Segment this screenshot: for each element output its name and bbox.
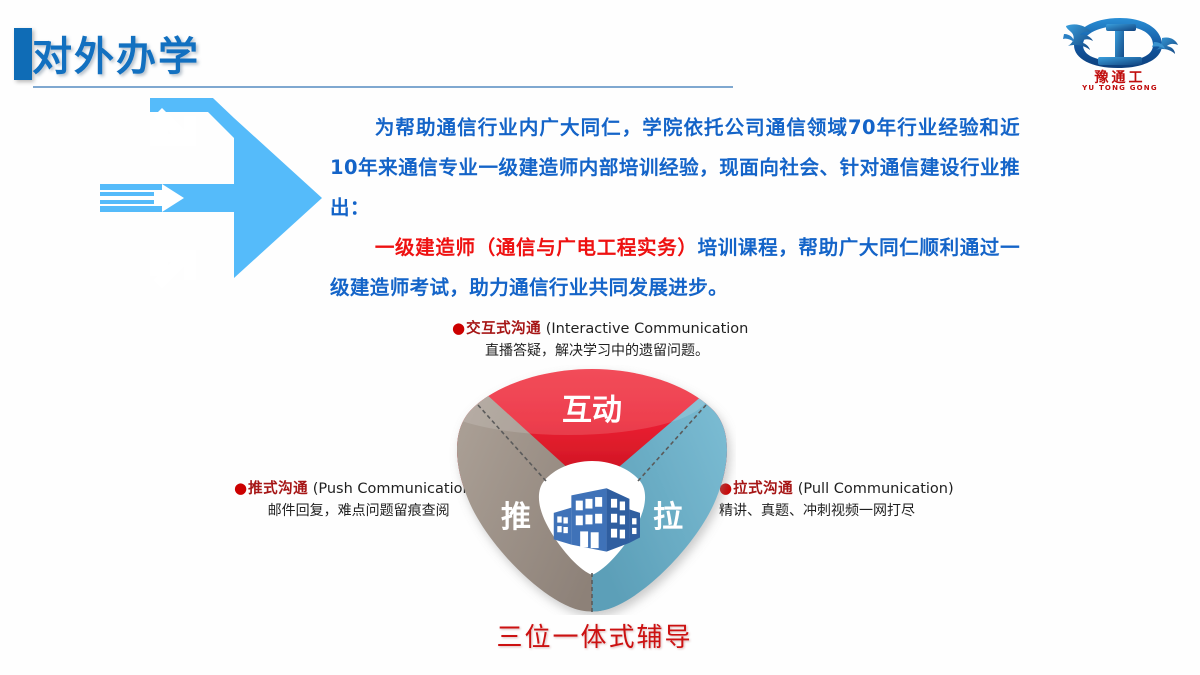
wedge-label-pull: 拉 [653,500,683,535]
label-pull-desc: 精讲、真题、冲刺视频一网打尽 [719,500,954,522]
label-pull-communication: ●拉式沟通 (Pull Communication) 精讲、真题、冲刺视频一网打… [719,477,954,522]
logo-name-en: YU TONG GONG [1054,84,1186,92]
company-logo: 豫通工 YU TONG GONG [1054,12,1186,92]
wedge-label-interactive: 互动 [562,393,622,428]
label-interactive-communication: ●交互式沟通 (Interactive Communication 直播答疑，解… [452,317,742,362]
wedge-label-push: 推 [501,500,531,535]
label-pull-en: (Pull Communication) [798,481,954,497]
body-paragraph-2: 一级建造师（通信与广电工程实务）培训课程，帮助广大同仁顺利通过一级建造师考试，助… [330,228,1020,308]
course-name-highlight: 一级建造师（通信与广电工程实务） [375,236,698,259]
page-title: 对外办学 [32,24,200,82]
body-text-block: 为帮助通信行业内广大同仁，学院依托公司通信领域70年行业经验和近10年来通信专业… [330,108,1020,308]
dragon-yt-monogram-icon [1062,12,1178,70]
label-push-desc: 邮件回复，难点问题留痕查阅 [234,500,477,522]
label-interactive-en: (Interactive Communication [546,321,749,337]
diagram-caption: 三位一体式辅导 [0,617,1200,654]
three-in-one-diagram: ●交互式沟通 (Interactive Communication 直播答疑，解… [0,305,1200,675]
label-interactive-cn: 交互式沟通 [466,321,541,337]
right-arrow-icon [84,98,336,298]
trefoil-segments-graphic: 互动 推 拉 [448,365,736,615]
title-underline [33,86,733,88]
bullet-dot-interactive: ● [452,319,465,337]
label-pull-cn: 拉式沟通 [733,481,793,497]
title-accent-bar [14,28,32,80]
bullet-dot-push: ● [234,479,247,497]
label-interactive-desc: 直播答疑，解决学习中的遗留问题。 [452,340,742,362]
body-paragraph-1: 为帮助通信行业内广大同仁，学院依托公司通信领域70年行业经验和近10年来通信专业… [330,108,1020,228]
slide-canvas: 对外办学 [0,0,1200,675]
label-push-communication: ●推式沟通 (Push Communication) 邮件回复，难点问题留痕查阅 [234,477,477,522]
label-push-cn: 推式沟通 [248,481,308,497]
diagram-caption-text: 三位一体式辅导 [496,617,692,654]
